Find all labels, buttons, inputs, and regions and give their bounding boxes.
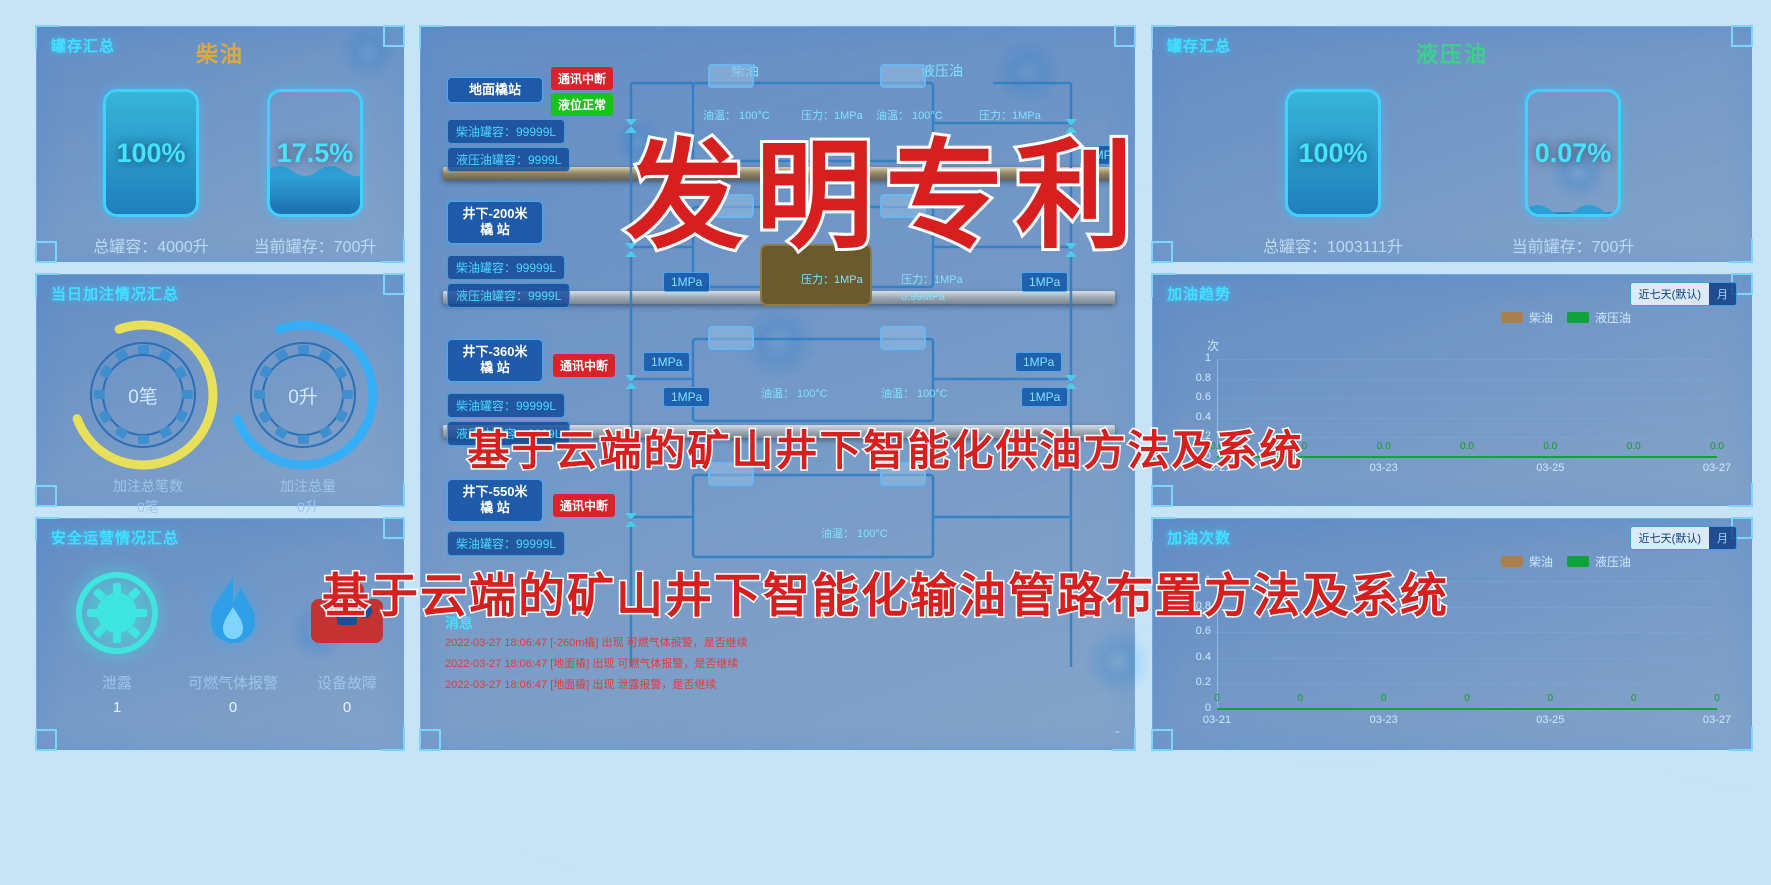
ring-gauge-total-count: 0笔 加注总笔数 0笔	[63, 315, 233, 517]
panel-daily-refuel-summary: 当日加注情况汇总 0笔 加注总	[36, 274, 404, 506]
safety-item-gas-alarm: 可燃气体报警 0	[173, 567, 293, 716]
station-data-diesel-ground: 柴油罐容：99999L	[447, 119, 565, 144]
status-level-ground: 液位正常	[551, 93, 613, 116]
ring-value: 0笔	[63, 315, 223, 475]
tank-gauge-total-capacity: 100% 总罐容：1003111升	[1233, 89, 1433, 257]
data-point-label: 0	[1621, 693, 1647, 704]
x-axis-tick: 03-27	[1697, 462, 1737, 474]
station-name-line2: 橇 站	[480, 500, 510, 515]
tank-caption: 总罐容：1003111升	[1233, 233, 1433, 257]
x-axis-tick: 03-25	[1530, 462, 1570, 474]
status-comm-360m: 通讯中断	[553, 354, 615, 377]
pressure-tag-4: 1MPa	[643, 352, 690, 372]
panel-title-trend: 加油趋势	[1167, 283, 1231, 304]
safety-item-leak: 泄露 1	[57, 567, 177, 716]
watermark-patent: 发明专利	[625, 100, 1145, 271]
station-data-diesel-550m: 柴油罐容：99999L	[447, 531, 565, 556]
legend-item-diesel[interactable]: 柴油	[1501, 309, 1553, 326]
tank-caption: 总罐容：4000升	[81, 233, 221, 257]
legend-swatch-diesel	[1501, 556, 1523, 567]
legend-label-diesel: 柴油	[1529, 553, 1553, 570]
station-data-hydraulic-ground: 液压油罐容：9999L	[447, 147, 570, 172]
chart-legend-count: 柴油 液压油	[1501, 553, 1631, 570]
reading-oil-temp-5: 油温： 100°C	[821, 525, 888, 541]
y-axis-tick: 0.2	[1185, 676, 1211, 688]
ring-gauge-total-volume: 0升 加注总量 0升	[223, 315, 393, 517]
legend-item-hydraulic[interactable]: 液压油	[1567, 309, 1631, 326]
station-label-360m[interactable]: 井下-360米 橇 站	[447, 339, 543, 382]
x-axis-tick: 03-21	[1197, 714, 1237, 726]
chart-legend-trend: 柴油 液压油	[1501, 309, 1631, 326]
panel-safety-summary: 安全运营情况汇总 泄露 1 可	[36, 518, 404, 750]
legend-label-diesel: 柴油	[1529, 309, 1553, 326]
status-comm-ground: 通讯中断	[551, 67, 613, 90]
safety-label: 可燃气体报警	[173, 672, 293, 693]
tank-percent-value: 0.07%	[1528, 92, 1618, 214]
safety-label: 设备故障	[287, 672, 407, 693]
legend-item-diesel[interactable]: 柴油	[1501, 553, 1553, 570]
panel-title-daily-refuel: 当日加注情况汇总	[51, 283, 179, 304]
message-log: 消息 2022-03-27 18:06:47 [-260m橇] 出现 可燃气体报…	[445, 613, 1111, 739]
tank-shape: 100%	[103, 89, 199, 217]
safety-value: 0	[173, 699, 293, 716]
data-point-label: 0	[1537, 693, 1563, 704]
tank-gauge-total-capacity: 100% 总罐容：4000升	[81, 89, 221, 257]
panel-tank-summary-hydraulic: 罐存汇总 液压油 100% 总罐容：1003111升 0.07% 当前罐存：70…	[1152, 26, 1752, 262]
station-name-line1: 井下-200米	[462, 206, 527, 221]
y-axis-tick: 0.4	[1185, 651, 1211, 663]
watermark-patent-title-1: 基于云端的矿山井下智能化供油方法及系统	[467, 417, 1303, 478]
product-label-hydraulic: 液压油	[1416, 37, 1488, 69]
ring-caption-line1: 加注总笔数	[63, 477, 233, 496]
message-line: 2022-03-27 18:06:47 [地面橇] 出现 泄露报警，是否继续	[445, 675, 1111, 696]
data-point-label: 0.0	[1371, 441, 1397, 452]
x-axis-tick: 03-23	[1364, 714, 1404, 726]
range-toggle-count[interactable]: 近七天(默认) 月	[1630, 526, 1737, 550]
panel-title-tank-summary-left: 罐存汇总	[51, 35, 115, 56]
range-option-month[interactable]: 月	[1709, 527, 1736, 549]
pressure-tag-7: 1MPa	[1021, 387, 1068, 407]
tank-caption: 当前罐存：700升	[1473, 233, 1673, 257]
y-axis-tick: 0.6	[1185, 391, 1211, 403]
gear-icon	[71, 567, 163, 659]
legend-label-hydraulic: 液压油	[1595, 309, 1631, 326]
scada-header-hydraulic: 液压油	[921, 61, 963, 81]
message-line: 2022-03-27 18:06:47 [-260m橇] 出现 可燃气体报警，是…	[445, 633, 1111, 654]
message-line: 2022-03-27 18:06:47 [地面橇] 出现 可燃气体报警，是否继续	[445, 654, 1111, 675]
data-point-label: 0	[1704, 693, 1730, 704]
station-label-ground[interactable]: 地面橇站	[447, 77, 543, 103]
data-point-label: 0	[1204, 693, 1230, 704]
tank-gauge-current-stock: 0.07% 当前罐存：700升	[1473, 89, 1673, 257]
ring-caption-line2: 0升	[223, 498, 393, 517]
pressure-tag-2: 1MPa	[663, 272, 710, 292]
reading-pressure-3: 压力：1MPa	[801, 271, 863, 287]
x-axis-tick: 03-25	[1530, 714, 1570, 726]
safety-value: 1	[57, 699, 177, 716]
legend-item-hydraulic[interactable]: 液压油	[1567, 553, 1631, 570]
data-point-label: 0	[1287, 693, 1313, 704]
dashboard-screen: 罐存汇总 柴油 100% 总罐容：4000升 17.5% 当前罐存：700升 当…	[18, 12, 1753, 873]
legend-swatch-hydraulic	[1567, 312, 1589, 323]
panel-title-safety: 安全运营情况汇总	[51, 527, 179, 548]
data-point-label: 0.0	[1454, 441, 1480, 452]
tank-shape: 0.07%	[1525, 89, 1621, 217]
product-label-diesel: 柴油	[196, 37, 244, 69]
scada-header-diesel: 柴油	[731, 61, 759, 81]
data-point-label: 0.0	[1621, 441, 1647, 452]
range-option-seven-days[interactable]: 近七天(默认)	[1631, 283, 1709, 305]
y-axis-tick: 0.6	[1185, 625, 1211, 637]
station-name-line1: 井下-550米	[462, 484, 527, 499]
legend-swatch-diesel	[1501, 312, 1523, 323]
panel-title-tank-summary-right: 罐存汇总	[1167, 35, 1231, 56]
y-axis-tick: 1	[1185, 352, 1211, 364]
ring-caption-line2: 0笔	[63, 498, 233, 517]
tank-percent-value: 100%	[1288, 92, 1378, 214]
range-option-seven-days[interactable]: 近七天(默认)	[1631, 527, 1709, 549]
data-point-label: 0	[1371, 693, 1397, 704]
zoom-out-button[interactable]: -	[1115, 723, 1120, 741]
pressure-tag-5: 1MPa	[1015, 352, 1062, 372]
tank-percent-value: 100%	[106, 92, 196, 214]
station-data-diesel-200m: 柴油罐容：99999L	[447, 255, 565, 280]
ring-caption-line1: 加注总量	[223, 477, 393, 496]
ring-shape: 0升	[223, 315, 383, 475]
tank-shape: 17.5%	[267, 89, 363, 217]
tank-shape: 100%	[1285, 89, 1381, 217]
pressure-tag-6: 1MPa	[663, 387, 710, 407]
x-axis-tick: 03-27	[1697, 714, 1737, 726]
tank-caption: 当前罐存：700升	[245, 233, 385, 257]
watermark-patent-title-2: 基于云端的矿山井下智能化输油管路布置方法及系统	[322, 557, 1449, 626]
range-option-month[interactable]: 月	[1709, 283, 1736, 305]
station-name-line2: 橇 站	[480, 360, 510, 375]
tank-gauge-current-stock: 17.5% 当前罐存：700升	[245, 89, 385, 257]
y-axis-tick: 0.8	[1185, 372, 1211, 384]
tank-percent-value: 17.5%	[270, 92, 360, 214]
data-point-label: 0	[1454, 693, 1480, 704]
status-comm-550m: 通讯中断	[553, 494, 615, 517]
station-name-line1: 井下-360米	[462, 344, 527, 359]
panel-tank-summary-diesel: 罐存汇总 柴油 100% 总罐容：4000升 17.5% 当前罐存：700升	[36, 26, 404, 262]
station-label-200m[interactable]: 井下-200米 橇 站	[447, 201, 543, 244]
reading-pressure-4: 压力：1MPa	[901, 271, 963, 287]
station-data-diesel-360m: 柴油罐容：99999L	[447, 393, 565, 418]
station-name-line2: 橇 站	[480, 222, 510, 237]
legend-swatch-hydraulic	[1567, 556, 1589, 567]
data-point-label: 0.0	[1704, 441, 1730, 452]
ring-shape: 0笔	[63, 315, 223, 475]
station-label-550m[interactable]: 井下-550米 橇 站	[447, 479, 543, 522]
flame-icon	[187, 567, 279, 659]
ring-value: 0升	[223, 315, 383, 475]
reading-pressure-5: 0.99MPa	[901, 291, 945, 303]
reading-oil-temp-3: 油温： 100°C	[761, 385, 828, 401]
data-point-label: 0.0	[1537, 441, 1563, 452]
range-toggle-trend[interactable]: 近七天(默认) 月	[1630, 282, 1737, 306]
x-axis-tick: 03-23	[1364, 462, 1404, 474]
legend-label-hydraulic: 液压油	[1595, 553, 1631, 570]
station-name: 地面橇站	[469, 82, 521, 97]
panel-title-count: 加油次数	[1167, 527, 1231, 548]
outer-frame: 罐存汇总 柴油 100% 总罐容：4000升 17.5% 当前罐存：700升 当…	[0, 0, 1771, 885]
safety-value: 0	[287, 699, 407, 716]
reading-oil-temp-4: 油温： 100°C	[881, 385, 948, 401]
pressure-tag-3: 1MPa	[1021, 272, 1068, 292]
panel-refuel-count-chart: 加油次数 近七天(默认) 月 柴油 液压油 00.20.40.60.8103-2…	[1152, 518, 1752, 750]
safety-label: 泄露	[57, 672, 177, 693]
station-data-hydraulic-200m: 液压油罐容：9999L	[447, 283, 570, 308]
